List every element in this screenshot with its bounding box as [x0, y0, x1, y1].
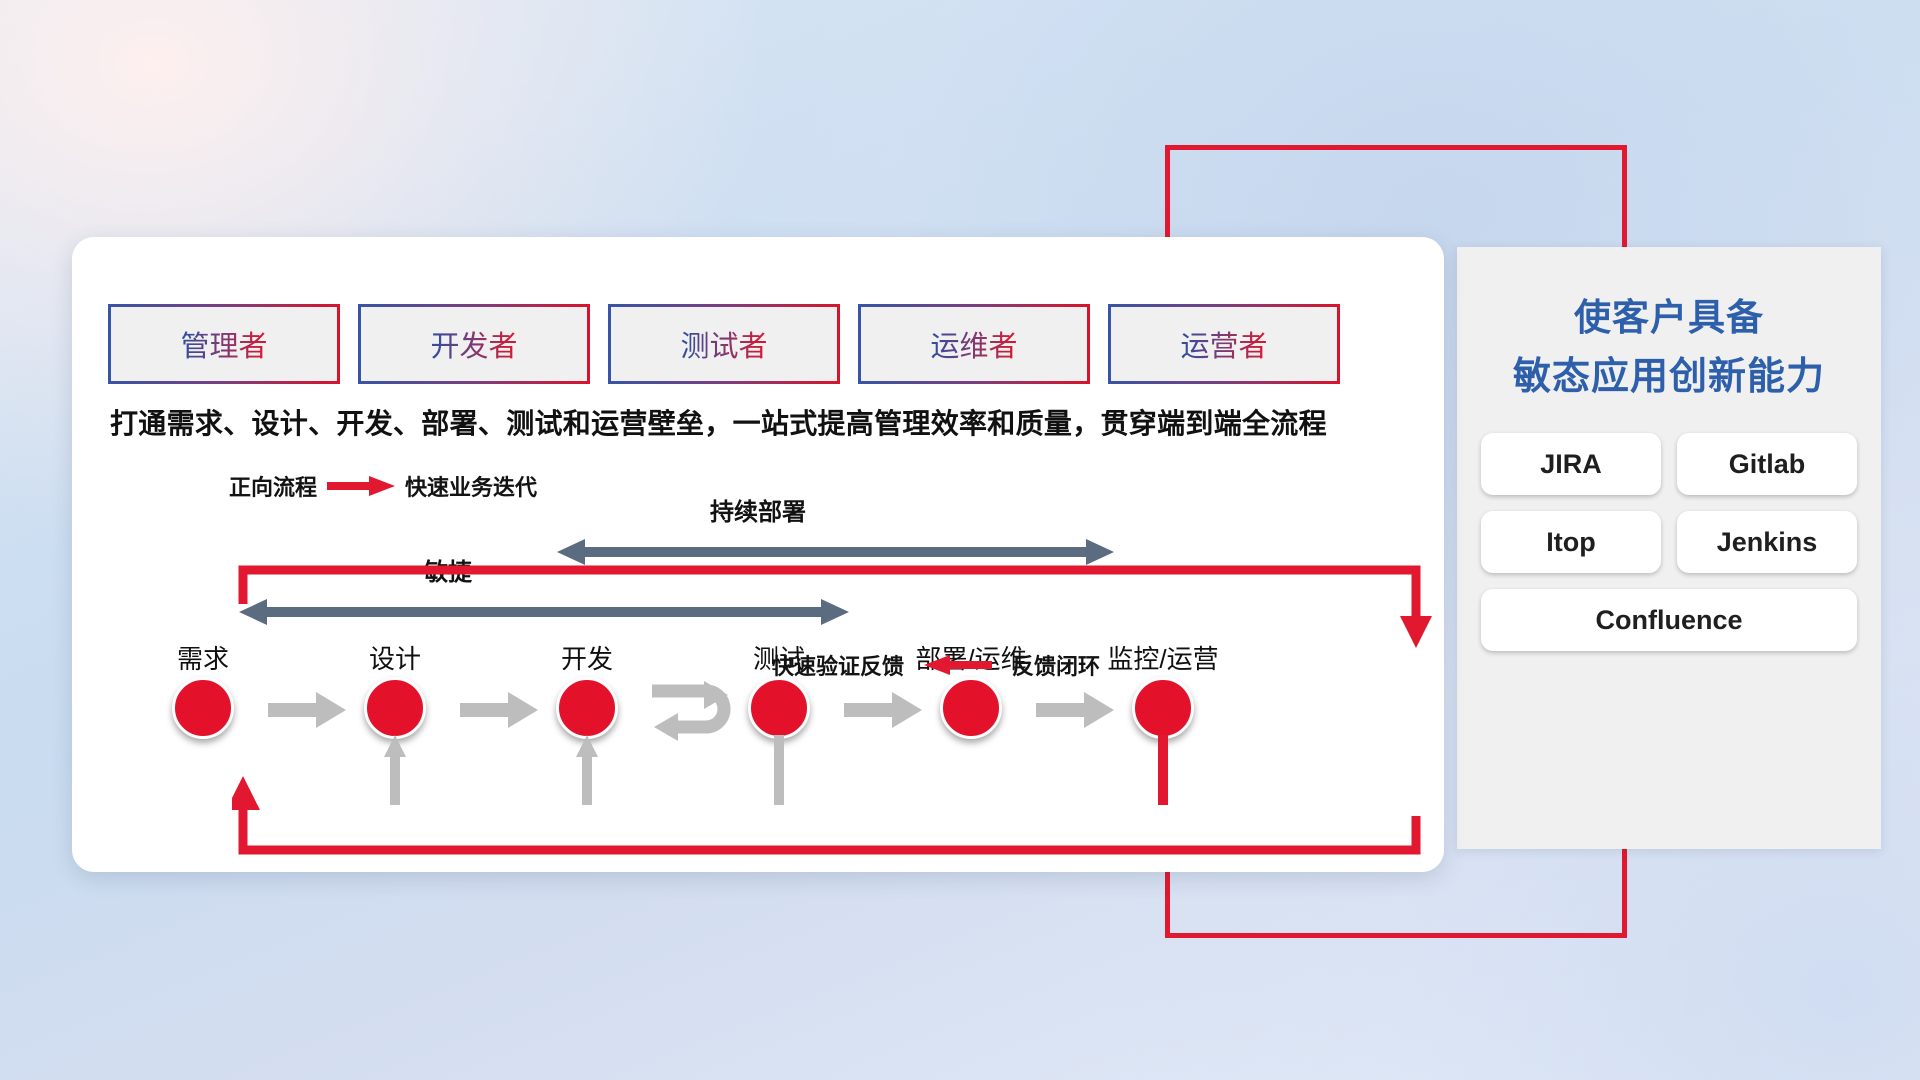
capability-panel: 使客户具备 敏态应用创新能力 JIRA Gitlab Itop Jenkins … — [1457, 247, 1881, 849]
stage-development[interactable]: 开发 — [556, 677, 618, 739]
panel-heading-line-1: 使客户具备 — [1467, 289, 1871, 347]
arrow-right-gray-icon — [1036, 692, 1114, 728]
stage-dot — [1132, 677, 1194, 739]
tool-chip-jira[interactable]: JIRA — [1481, 433, 1661, 495]
stage-testing[interactable]: 测试 — [748, 677, 810, 739]
feed-in-arrow-design-icon — [384, 735, 406, 805]
tool-chip-confluence[interactable]: Confluence — [1481, 589, 1857, 651]
stage-dot — [364, 677, 426, 739]
arrow-right-gray-icon — [460, 692, 538, 728]
stage-dot — [940, 677, 1002, 739]
tool-chip-list: JIRA Gitlab Itop Jenkins Confluence — [1457, 433, 1881, 651]
stage-monitor-operate[interactable]: 监控/运营 — [1132, 677, 1194, 739]
feed-in-arrow-development-icon — [576, 735, 598, 805]
tool-chip-itop[interactable]: Itop — [1481, 511, 1661, 573]
tool-chip-gitlab[interactable]: Gitlab — [1677, 433, 1857, 495]
stage-deploy-ops[interactable]: 部署/运维 — [940, 677, 1002, 739]
stage-label: 监控/运营 — [1107, 639, 1218, 676]
stage-row: 需求 设计 开发 测试 — [72, 237, 1444, 872]
feed-in-stem-testing-icon — [768, 735, 790, 805]
stage-label: 需求 — [177, 639, 229, 676]
arrow-right-gray-icon — [844, 692, 922, 728]
arrow-left-red-icon — [924, 654, 992, 676]
loop-back-gray-icon — [644, 677, 742, 757]
stage-design[interactable]: 设计 — [364, 677, 426, 739]
arrow-right-gray-icon — [268, 692, 346, 728]
panel-heading-line-2: 敏态应用创新能力 — [1467, 347, 1871, 407]
stage-label: 开发 — [561, 639, 613, 676]
feedback-left-label: 快速验证反馈 — [772, 649, 904, 681]
stage-requirement[interactable]: 需求 — [172, 677, 234, 739]
stage-dot — [172, 677, 234, 739]
panel-heading: 使客户具备 敏态应用创新能力 — [1457, 247, 1881, 407]
stage-dot — [556, 677, 618, 739]
tool-chip-jenkins[interactable]: Jenkins — [1677, 511, 1857, 573]
feedback-right-label: 反馈闭环 — [1012, 649, 1100, 681]
feed-in-stem-monitor-icon — [1152, 735, 1174, 805]
devops-flow-card: 管理者 开发者 测试者 运维者 运营者 打通需求、设计、开发、部署、测试和运营壁… — [72, 237, 1444, 872]
stage-dot — [748, 677, 810, 739]
stage-label: 设计 — [369, 639, 421, 676]
feedback-loop-legend: 快速验证反馈 反馈闭环 — [772, 649, 1100, 681]
